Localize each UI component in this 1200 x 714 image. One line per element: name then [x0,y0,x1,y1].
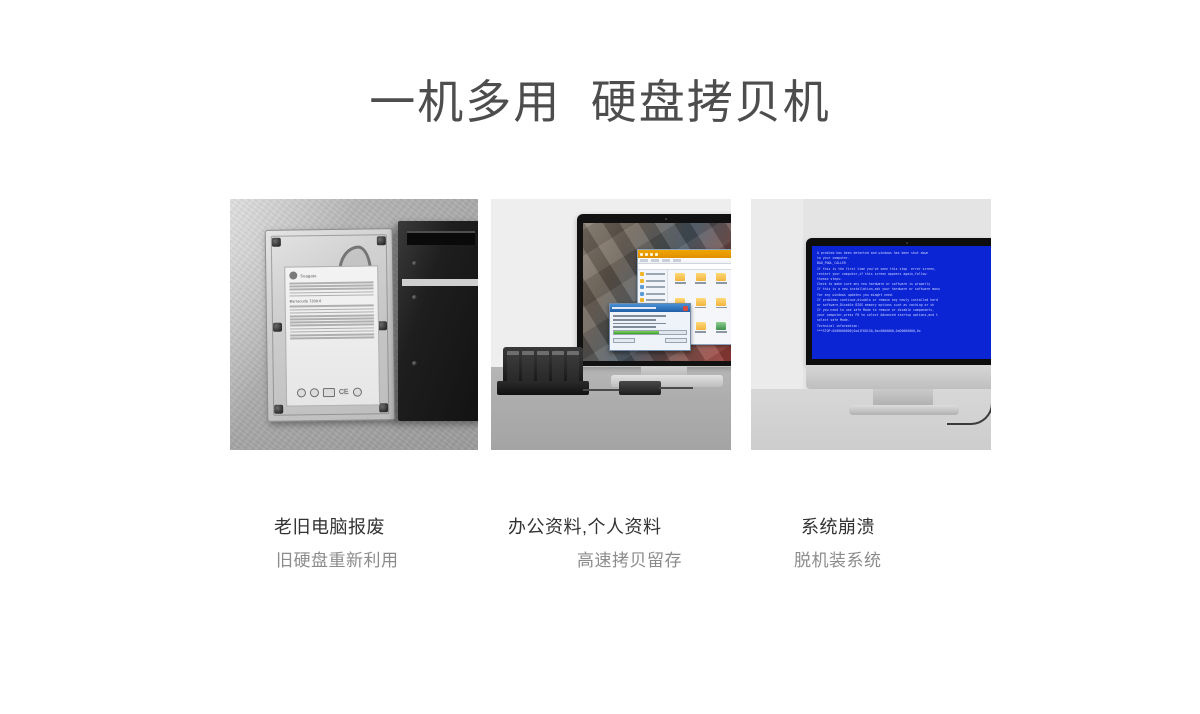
file-name [675,282,686,284]
tuv-mark-icon [323,388,335,397]
caption-primary: 老旧电脑报废 [230,514,480,541]
hard-drive-brand-row: Seagate [289,270,373,279]
label-line [290,321,374,324]
file-item[interactable] [692,273,711,294]
close-icon[interactable] [655,253,658,256]
file-item[interactable] [671,273,690,294]
folder-icon [696,322,706,330]
drive-icon [640,292,644,296]
explorer-titlebar[interactable] [638,250,731,258]
nav-item[interactable] [640,292,665,296]
label-line [290,327,374,330]
weee-mark-icon [353,388,362,397]
label-line [289,285,373,288]
blue-screen-text: A problem has been detected and windows … [812,246,991,359]
file-name [695,307,706,309]
drive-icon [640,285,644,289]
feature-image-row: Seagate Barracuda 7200.0 [230,199,970,450]
caption-secondary: 旧硬盘重新利用 [230,548,480,574]
progress-bar-fill [614,331,659,334]
folder-icon [696,298,706,306]
page-title: 一机多用 硬盘拷贝机 [0,76,1200,129]
screw-icon [412,261,417,266]
file-item[interactable] [692,322,711,343]
screw-icon [274,405,283,414]
dialog-buttons [613,338,687,343]
recycle-mark-icon [310,388,319,397]
caption-primary: 办公资料,个人资料 [480,514,725,541]
screw-icon [378,321,387,330]
folder-icon [675,273,685,281]
ce-mark-icon: CE [339,389,349,396]
nav-item-label [646,273,665,275]
file-name [695,282,706,284]
all-in-one-monitor: A problem has been detected and windows … [806,238,991,365]
explorer-icon [640,253,643,256]
nav-item[interactable] [640,285,665,289]
hard-drive-label: Seagate Barracuda 7200.0 [284,265,380,406]
promo-page: 一机多用 硬盘拷贝机 Seagate [0,0,1200,714]
power-adapter [619,381,661,395]
feature-caption-data-backup: 办公资料,个人资料 高速拷贝留存 [480,514,725,574]
screw-icon [412,361,417,366]
file-name [716,282,727,284]
screw-icon [379,403,388,412]
ul-mark-icon [297,388,306,397]
progress-bar [613,330,687,335]
caption-secondary: 脱机装系统 [725,548,970,574]
file-item[interactable] [712,298,731,319]
monitor-screen [583,223,731,361]
label-line [289,281,373,284]
label-line [289,288,373,291]
nav-item[interactable] [640,272,665,276]
feature-caption-row: 老旧电脑报废 旧硬盘重新利用 办公资料,个人资料 高速拷贝留存 系统崩溃 脱机装… [230,514,970,574]
minimize-icon[interactable] [645,253,648,256]
folder-icon [716,273,726,281]
file-item[interactable] [692,298,711,319]
details-button[interactable] [613,338,635,343]
enclosure-strip [402,279,478,286]
usb-cable [583,389,623,391]
hard-drive-body: Seagate Barracuda 7200.0 [265,228,396,422]
ribbon-tab[interactable] [651,259,659,262]
image-file-icon [716,322,726,330]
file-name [716,307,727,309]
dialog-title-text [612,307,656,309]
label-line [290,330,374,333]
file-item[interactable] [712,322,731,343]
feature-image-old-pc: Seagate Barracuda 7200.0 [230,199,478,450]
screw-icon [273,323,282,332]
dialog-line [613,326,656,328]
monitor-chin [806,365,991,389]
power-cable [659,387,693,389]
folder-icon [696,273,706,281]
nav-item[interactable] [640,298,665,302]
label-line [290,305,374,308]
seagate-logo-icon [289,271,297,279]
screw-icon [377,236,386,245]
folder-icon [716,298,726,306]
feature-image-data-backup [491,199,731,450]
label-line [290,317,374,320]
feature-image-system-crash: A problem has been detected and windows … [751,199,991,450]
label-line [290,324,374,327]
certification-marks: CE [297,388,362,398]
label-line [290,333,374,336]
caption-secondary: 高速拷贝留存 [480,548,725,574]
nav-item[interactable] [640,279,665,283]
feature-caption-old-pc: 老旧电脑报废 旧硬盘重新利用 [230,514,480,574]
cancel-button[interactable] [665,338,687,343]
hard-drive-enclosure [398,221,478,421]
maximize-icon[interactable] [650,253,653,256]
dialog-line [613,323,666,325]
file-name [695,331,706,333]
monitor-base [849,405,959,415]
ribbon-tab[interactable] [662,259,670,262]
file-item[interactable] [712,273,731,294]
webcam-icon [906,242,908,244]
hard-drive-brand-text: Seagate [300,273,316,278]
label-line [290,294,374,297]
dialog-line [613,315,666,317]
folder-icon [640,272,644,276]
power-cable [947,387,991,425]
label-line [290,314,374,317]
caption-primary: 系统崩溃 [725,514,970,541]
dialog-titlebar[interactable] [610,304,690,312]
file-name [716,331,727,333]
enclosure-slot [407,231,475,245]
nav-item-label [646,299,665,301]
label-line [290,291,374,294]
nav-item-label [646,286,665,288]
dialog-body [610,312,690,346]
feature-caption-system-crash: 系统崩溃 脱机装系统 [725,514,970,574]
copy-progress-dialog[interactable] [609,303,691,351]
dialog-line [613,319,656,321]
label-line [290,311,374,314]
hard-drive-model-text: Barracuda 7200.0 [290,299,374,304]
all-in-one-monitor [577,214,731,366]
nav-item-label [646,293,665,295]
dock-base [497,381,589,395]
webcam-icon [665,218,667,220]
screw-icon [412,295,417,300]
close-icon[interactable] [683,306,688,311]
screw-icon [272,238,281,247]
ribbon-tab[interactable] [673,259,681,262]
label-line [290,308,374,311]
nav-item-label [646,280,665,282]
ribbon-tab[interactable] [640,259,648,262]
label-line [290,337,374,340]
folder-icon [640,298,644,302]
folder-icon [640,279,644,283]
